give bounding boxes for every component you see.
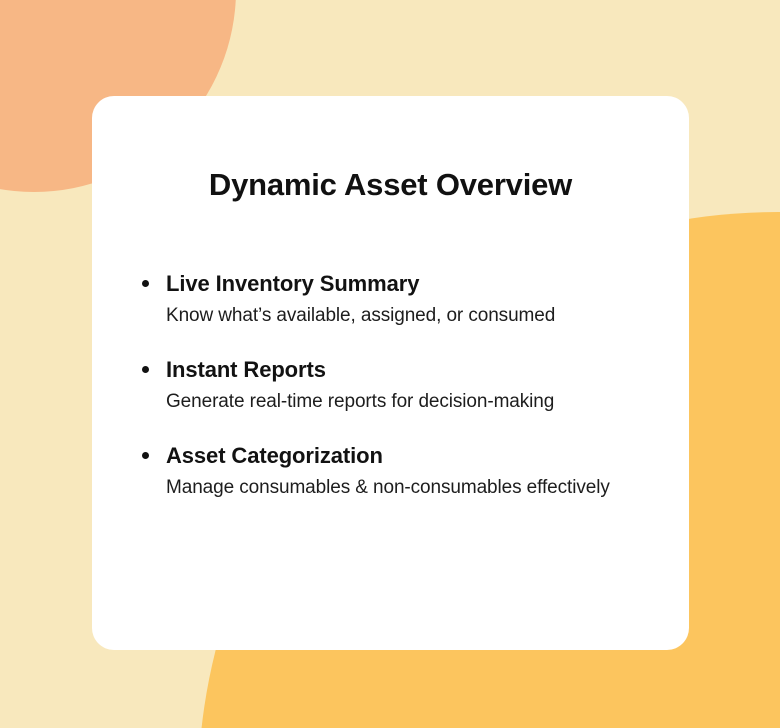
bullet-icon (142, 366, 149, 373)
bullet-icon (142, 452, 149, 459)
feature-heading: Asset Categorization (166, 442, 669, 471)
list-item: Instant Reports Generate real-time repor… (141, 356, 669, 415)
page-title: Dynamic Asset Overview (92, 166, 689, 203)
content-card: Dynamic Asset Overview Live Inventory Su… (92, 96, 689, 650)
list-item: Live Inventory Summary Know what’s avail… (141, 270, 669, 329)
feature-heading: Live Inventory Summary (166, 270, 669, 299)
feature-description: Know what’s available, assigned, or cons… (166, 302, 669, 330)
feature-description: Generate real-time reports for decision-… (166, 388, 669, 416)
feature-list: Live Inventory Summary Know what’s avail… (141, 270, 669, 501)
slide-canvas: Dynamic Asset Overview Live Inventory Su… (0, 0, 780, 728)
feature-description: Manage consumables & non-consumables eff… (166, 474, 669, 502)
list-item: Asset Categorization Manage consumables … (141, 442, 669, 501)
bullet-icon (142, 280, 149, 287)
feature-heading: Instant Reports (166, 356, 669, 385)
